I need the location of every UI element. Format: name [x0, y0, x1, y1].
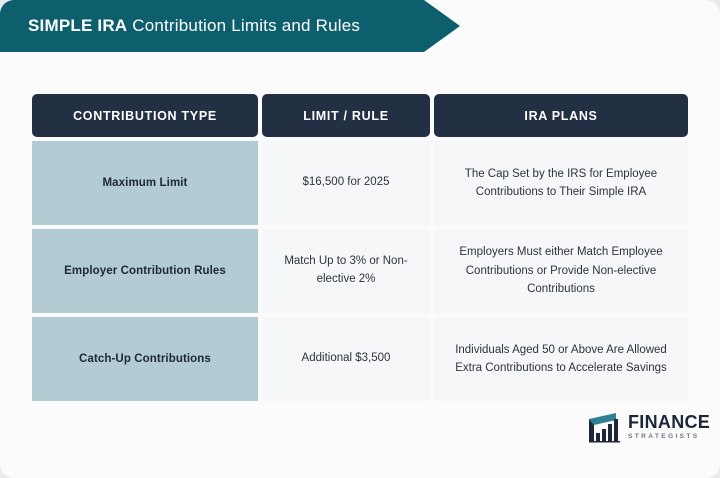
table-header-row: CONTRIBUTION TYPE LIMIT / RULE IRA PLANS: [32, 94, 688, 137]
infographic-card: SIMPLE IRA Contribution Limits and Rules…: [0, 0, 720, 478]
logo-wordmark: FINANCE STRATEGISTS: [628, 413, 710, 441]
logo-primary-text: FINANCE: [628, 413, 710, 431]
cell-limit-rule: $16,500 for 2025: [262, 141, 430, 225]
cell-limit-rule: Match Up to 3% or Non-elective 2%: [262, 229, 430, 313]
brand-logo: FINANCE STRATEGISTS: [586, 411, 710, 443]
table-row: Employer Contribution Rules Match Up to …: [32, 229, 688, 313]
header-banner: SIMPLE IRA Contribution Limits and Rules: [0, 0, 460, 52]
page-title-strong: SIMPLE IRA: [28, 16, 127, 35]
cell-contribution-type: Catch-Up Contributions: [32, 317, 258, 401]
column-header-contribution-type: CONTRIBUTION TYPE: [32, 94, 258, 137]
cell-limit-rule: Additional $3,500: [262, 317, 430, 401]
column-header-ira-plans: IRA PLANS: [434, 94, 688, 137]
bar-chart-arrow-icon: [586, 411, 622, 443]
table-row: Catch-Up Contributions Additional $3,500…: [32, 317, 688, 401]
page-title: SIMPLE IRA Contribution Limits and Rules: [0, 16, 360, 36]
cell-ira-plans: Employers Must either Match Employee Con…: [434, 229, 688, 313]
cell-contribution-type: Maximum Limit: [32, 141, 258, 225]
page-title-rest: Contribution Limits and Rules: [127, 16, 360, 35]
cell-ira-plans: The Cap Set by the IRS for Employee Cont…: [434, 141, 688, 225]
cell-contribution-type: Employer Contribution Rules: [32, 229, 258, 313]
cell-ira-plans: Individuals Aged 50 or Above Are Allowed…: [434, 317, 688, 401]
table-row: Maximum Limit $16,500 for 2025 The Cap S…: [32, 141, 688, 225]
column-header-limit-rule: LIMIT / RULE: [262, 94, 430, 137]
logo-secondary-text: STRATEGISTS: [628, 434, 710, 441]
contribution-limits-table: CONTRIBUTION TYPE LIMIT / RULE IRA PLANS…: [32, 94, 688, 401]
